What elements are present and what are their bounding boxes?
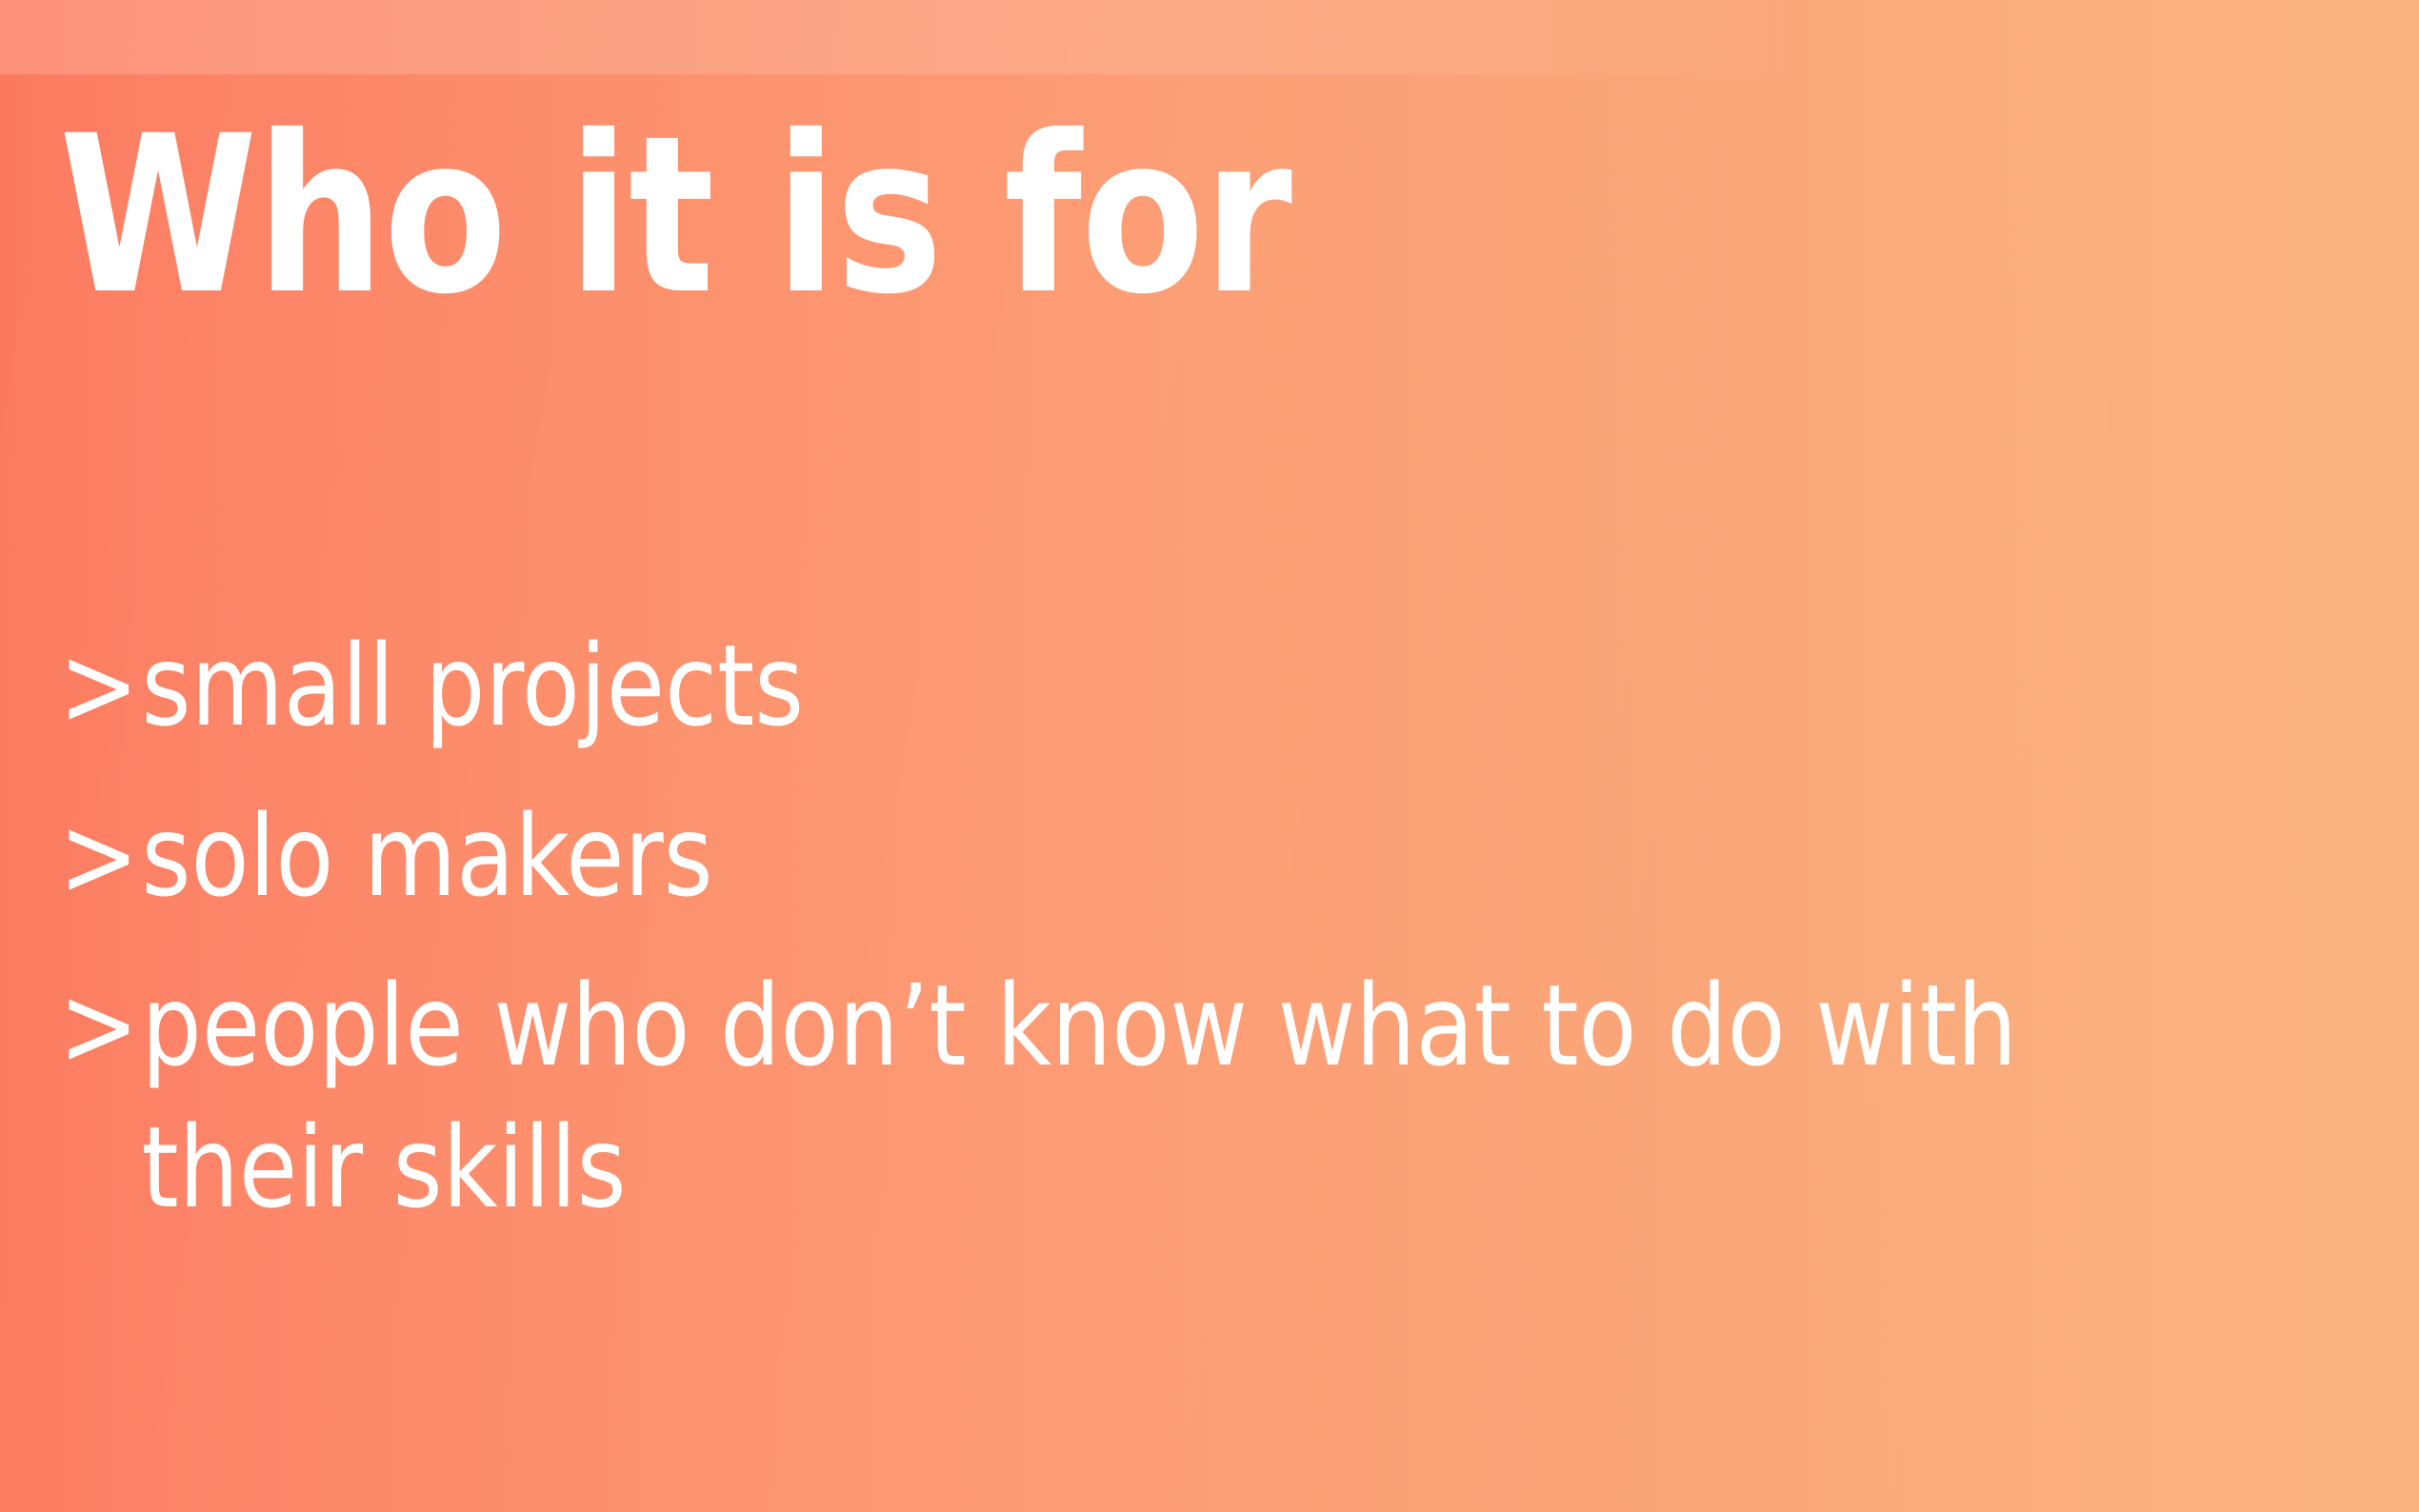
slide-content: Who it is for >small projects >solo make… xyxy=(0,0,2419,1512)
list-item: >small projects xyxy=(59,615,2208,757)
bullet-list: >small projects >solo makers >people who… xyxy=(59,615,2345,1239)
chevron-right-icon: > xyxy=(59,786,141,927)
presentation-slide: Who it is for >small projects >solo make… xyxy=(0,0,2419,1512)
list-item: >solo makers xyxy=(59,786,2208,927)
chevron-right-icon: > xyxy=(59,955,141,1097)
list-item-label: people who don’t know what to do with th… xyxy=(141,960,2017,1233)
chevron-right-icon: > xyxy=(59,615,141,757)
list-item-label: small projects xyxy=(141,620,804,751)
page-title: Who it is for xyxy=(59,107,1291,324)
list-item-label: solo makers xyxy=(141,790,712,922)
list-item: >people who don’t know what to do with t… xyxy=(59,955,2208,1238)
